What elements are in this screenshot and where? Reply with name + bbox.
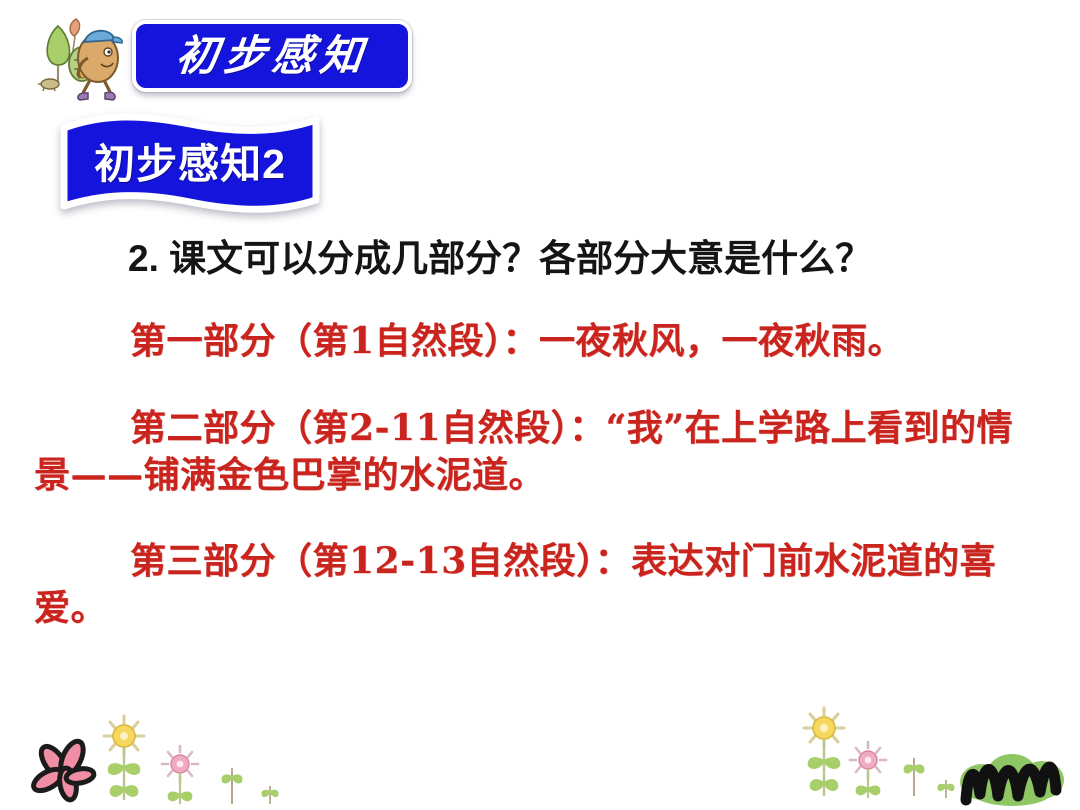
- flower-cluster-left: [14, 712, 294, 808]
- walking-character-clipart: [28, 14, 124, 106]
- question-line: 2. 课文可以分成几部分？各部分大意是什么？: [128, 238, 872, 281]
- parts-block: 第一部分（第1自然段）：一夜秋风，一夜秋雨。 第二部分（第2-11自然段）：“我…: [34, 318, 1046, 632]
- part-item-3: 第三部分（第12-13自然段）：表达对门前水泥道的喜爱。: [34, 538, 1046, 632]
- banner-primary-label: 初步感知: [174, 35, 370, 77]
- walking-character-icon: [28, 14, 124, 106]
- flower-cluster-right-icon: [792, 706, 1072, 806]
- flower-cluster-right: [792, 706, 1072, 806]
- slide-canvas: 初步感知 初步感知2 2. 课文可以分成几部分？各部分大意是什么？ 第一部分（第…: [0, 0, 1080, 810]
- part-item-2: 第二部分（第2-11自然段）：“我”在上学路上看到的情景——铺满金色巴掌的水泥道…: [34, 405, 1046, 499]
- banner-primary: 初步感知: [132, 20, 412, 92]
- banner-secondary-label: 初步感知2: [58, 112, 322, 216]
- banner-secondary: 初步感知2: [58, 112, 322, 216]
- flower-cluster-left-icon: [14, 712, 294, 808]
- part-item-1: 第一部分（第1自然段）：一夜秋风，一夜秋雨。: [34, 318, 1046, 365]
